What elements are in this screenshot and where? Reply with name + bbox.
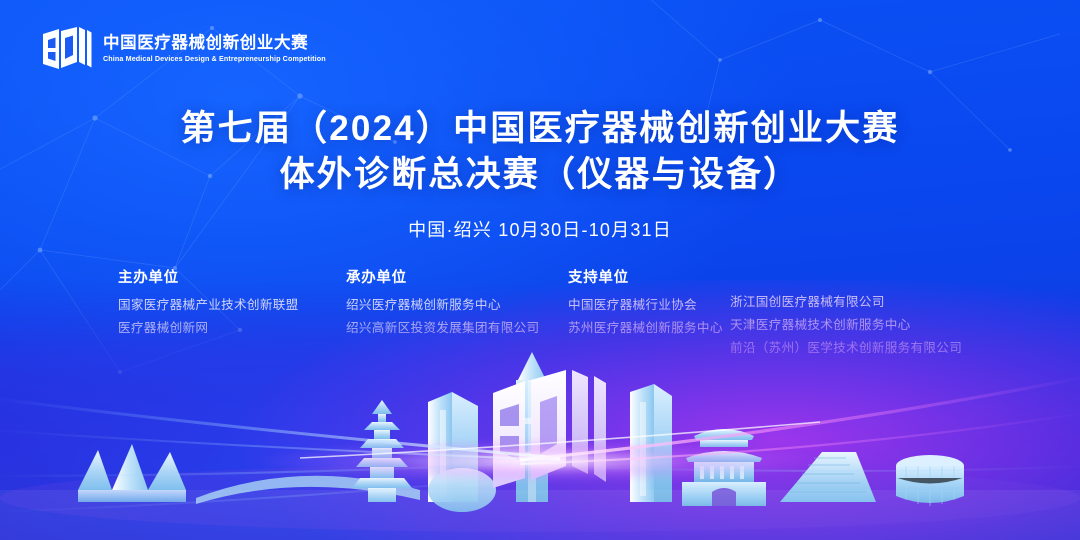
organizer-item: 医疗器械创新网 bbox=[118, 317, 346, 340]
organizer-heading: 承办单位 bbox=[346, 266, 568, 287]
organizer-heading: 主办单位 bbox=[118, 266, 346, 287]
organizer-item: 苏州医疗器械创新服务中心 bbox=[568, 317, 730, 340]
horizon-glow bbox=[160, 432, 920, 490]
open-book-door-logo-icon bbox=[42, 26, 92, 72]
brand-logo[interactable]: 中国医疗器械创新创业大赛 China Medical Devices Desig… bbox=[42, 26, 333, 72]
organizer-column-supporter-extra: 浙江国创医疗器械有限公司 天津医疗器械技术创新服务中心 前沿（苏州）医学技术创新… bbox=[730, 266, 980, 360]
event-title-line2: 体外诊断总决赛（仪器与设备） bbox=[0, 152, 1080, 198]
logo-title-cn: 中国医疗器械创新创业大赛 bbox=[103, 34, 333, 53]
event-banner: 中国医疗器械创新创业大赛 China Medical Devices Desig… bbox=[0, 0, 1080, 540]
event-location-date: 中国·绍兴 10月30日-10月31日 bbox=[0, 216, 1080, 242]
organizer-column-host: 主办单位 国家医疗器械产业技术创新联盟 医疗器械创新网 bbox=[118, 266, 346, 340]
round-stadium bbox=[896, 455, 964, 506]
organizer-item: 天津医疗器械技术创新服务中心 bbox=[730, 314, 980, 337]
organizer-heading: 支持单位 bbox=[568, 266, 730, 287]
spire-skyscraper bbox=[516, 352, 548, 502]
organizer-item: 中国医疗器械行业协会 bbox=[568, 294, 730, 317]
pagoda-tower bbox=[352, 400, 412, 502]
city-skyline bbox=[0, 340, 1080, 540]
organizer-item: 浙江国创医疗器械有限公司 bbox=[730, 291, 980, 314]
organizer-list: 主办单位 国家医疗器械产业技术创新联盟 医疗器械创新网 承办单位 绍兴医疗器械创… bbox=[118, 266, 980, 360]
central-logo-monument bbox=[490, 370, 606, 490]
organizer-column-supporter: 支持单位 中国医疗器械行业协会 苏州医疗器械创新服务中心 bbox=[568, 266, 730, 340]
logo-title-en: China Medical Devices Design & Entrepren… bbox=[103, 53, 326, 64]
event-title-line1: 第七届（2024）中国医疗器械创新创业大赛 bbox=[0, 106, 1080, 152]
arch-bridge bbox=[196, 476, 420, 504]
organizer-item: 绍兴高新区投资发展集团有限公司 bbox=[346, 317, 568, 340]
stepped-pyramid-building bbox=[780, 452, 876, 502]
twin-tower bbox=[630, 384, 672, 502]
organizer-column-coorganizer: 承办单位 绍兴医疗器械创新服务中心 绍兴高新区投资发展集团有限公司 bbox=[346, 266, 568, 340]
organizer-item: 国家医疗器械产业技术创新联盟 bbox=[118, 294, 346, 317]
glass-skyscraper bbox=[428, 392, 496, 512]
organizer-item: 绍兴医疗器械创新服务中心 bbox=[346, 294, 568, 317]
traditional-gate-tower bbox=[682, 429, 766, 506]
organizer-item: 前沿（苏州）医学技术创新服务有限公司 bbox=[730, 337, 980, 360]
angular-modern-building bbox=[78, 444, 186, 502]
title-block: 第七届（2024）中国医疗器械创新创业大赛 体外诊断总决赛（仪器与设备） 中国·… bbox=[0, 106, 1080, 242]
